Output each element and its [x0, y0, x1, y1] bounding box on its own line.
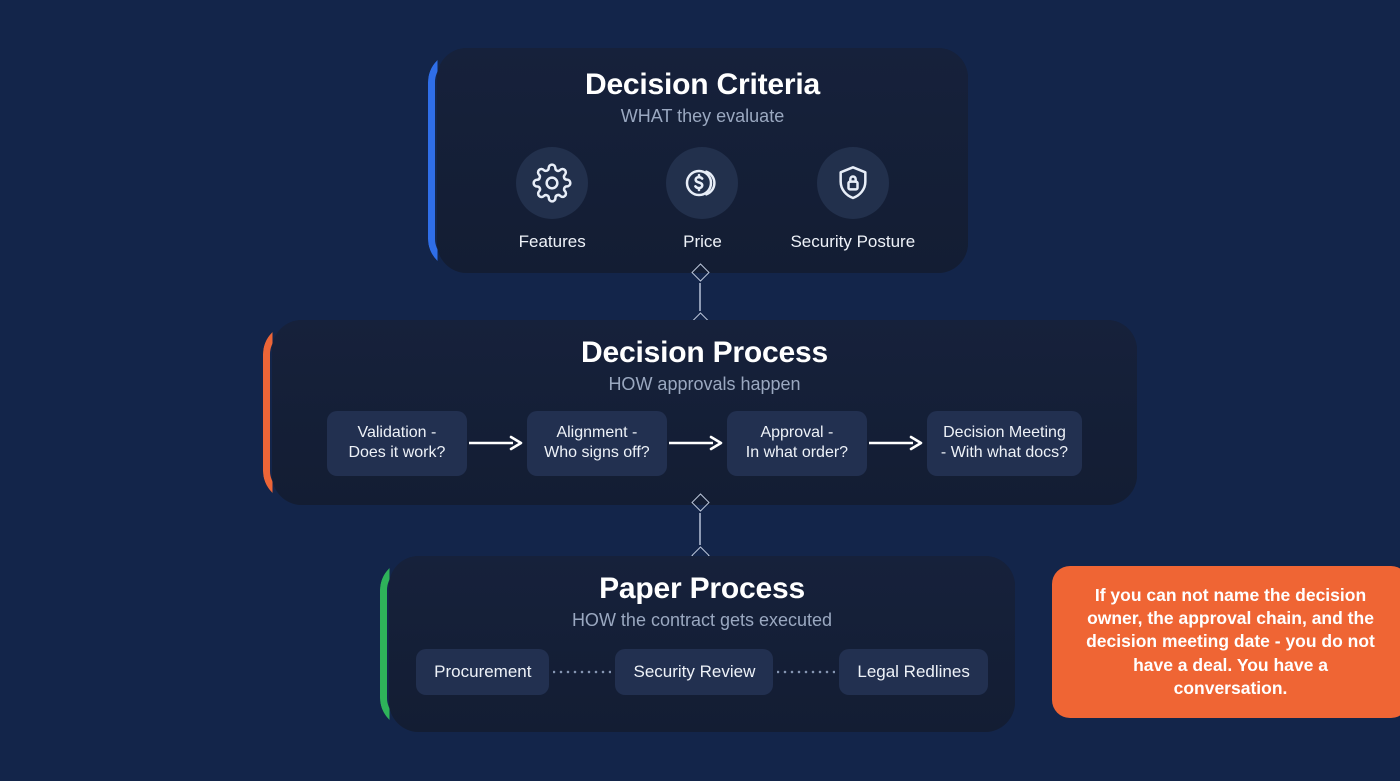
criteria-label-price: Price: [683, 232, 722, 252]
process-step[interactable]: Validation - Does it work?: [327, 411, 467, 476]
criteria-item-security-posture[interactable]: Security Posture: [778, 147, 928, 252]
criteria-item-features[interactable]: Features: [477, 147, 627, 252]
diamond-icon: [691, 493, 709, 511]
connector-criteria-to-process: [689, 266, 711, 328]
arrow-right-icon: [669, 435, 725, 451]
connector-line: [699, 513, 701, 545]
paper-steps-row: Procurement Security Review Legal Redlin…: [389, 649, 1015, 695]
paper-process-subtitle: HOW the contract gets executed: [389, 610, 1015, 631]
diamond-icon: [691, 263, 709, 281]
shield-lock-icon: [817, 147, 889, 219]
paper-step[interactable]: Procurement: [416, 649, 549, 695]
decision-process-card: Decision Process HOW approvals happen Va…: [272, 320, 1137, 505]
connector-process-to-paper: [689, 496, 711, 562]
dotted-connector: [777, 670, 835, 674]
decision-process-subtitle: HOW approvals happen: [272, 374, 1137, 395]
callout-text: If you can not name the decision owner, …: [1074, 584, 1387, 699]
coins-dollar-icon: [666, 147, 738, 219]
criteria-label-features: Features: [519, 232, 586, 252]
process-steps-row: Validation - Does it work? Alignment - W…: [272, 411, 1137, 476]
gear-icon: [516, 147, 588, 219]
dotted-connector: [553, 670, 611, 674]
criteria-item-price[interactable]: Price: [627, 147, 777, 252]
paper-step[interactable]: Legal Redlines: [839, 649, 987, 695]
paper-process-title: Paper Process: [389, 572, 1015, 606]
diagram-canvas: Decision Criteria WHAT they evaluate Fea…: [0, 0, 1400, 781]
decision-criteria-title: Decision Criteria: [437, 68, 968, 102]
paper-step[interactable]: Security Review: [615, 649, 773, 695]
decision-criteria-subtitle: WHAT they evaluate: [437, 106, 968, 127]
process-step[interactable]: Alignment - Who signs off?: [527, 411, 667, 476]
callout-banner: If you can not name the decision owner, …: [1052, 566, 1400, 718]
process-step[interactable]: Decision Meeting - With what docs?: [927, 411, 1082, 476]
paper-process-card: Paper Process HOW the contract gets exec…: [389, 556, 1015, 732]
decision-process-title: Decision Process: [272, 336, 1137, 370]
criteria-label-security-posture: Security Posture: [790, 232, 915, 252]
criteria-items-row: Features Price: [437, 147, 968, 252]
process-step[interactable]: Approval - In what order?: [727, 411, 867, 476]
connector-line: [699, 283, 701, 311]
arrow-right-icon: [869, 435, 925, 451]
decision-criteria-card: Decision Criteria WHAT they evaluate Fea…: [437, 48, 968, 273]
arrow-right-icon: [469, 435, 525, 451]
